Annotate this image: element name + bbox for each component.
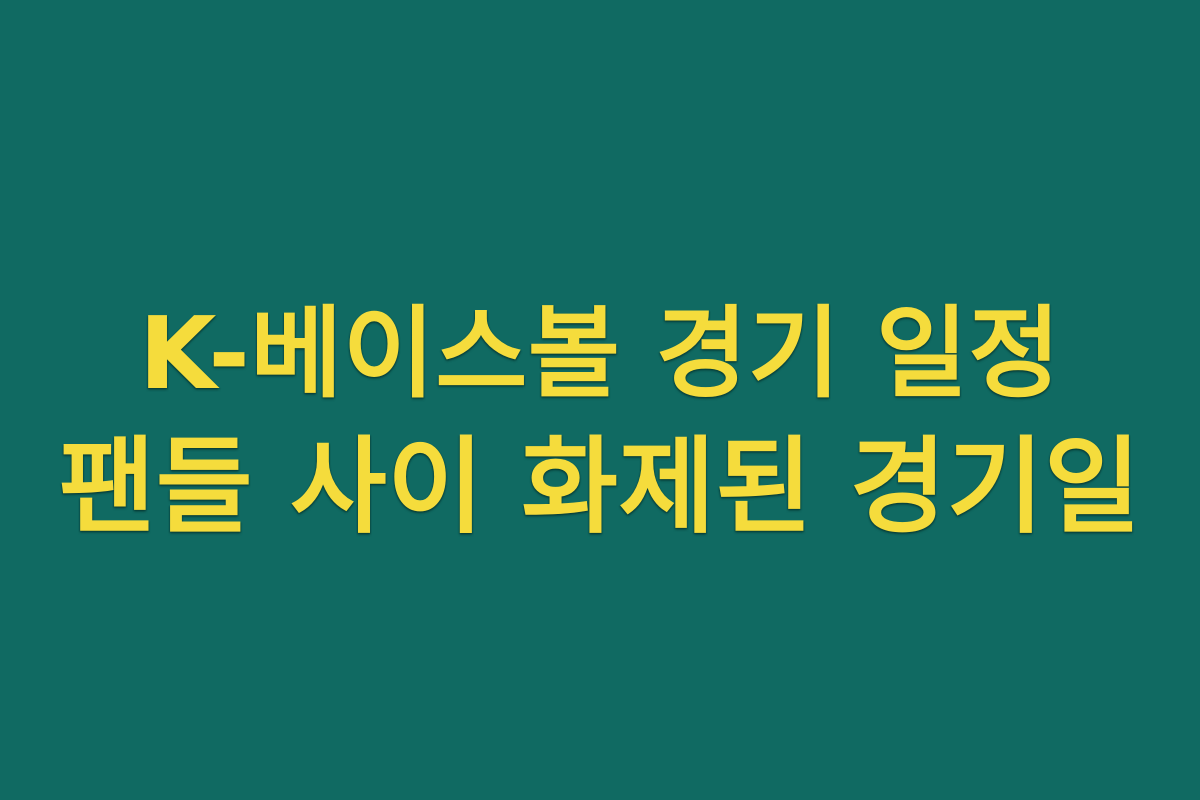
title-line-primary: K-베이스볼 경기 일정 — [0, 289, 1200, 419]
title-line-secondary: 팬들 사이 화제된 경기일 — [0, 419, 1200, 556]
thumbnail-card: K-베이스볼 경기 일정 팬들 사이 화제된 경기일 — [0, 0, 1200, 800]
title-block: K-베이스볼 경기 일정 팬들 사이 화제된 경기일 — [0, 289, 1200, 556]
